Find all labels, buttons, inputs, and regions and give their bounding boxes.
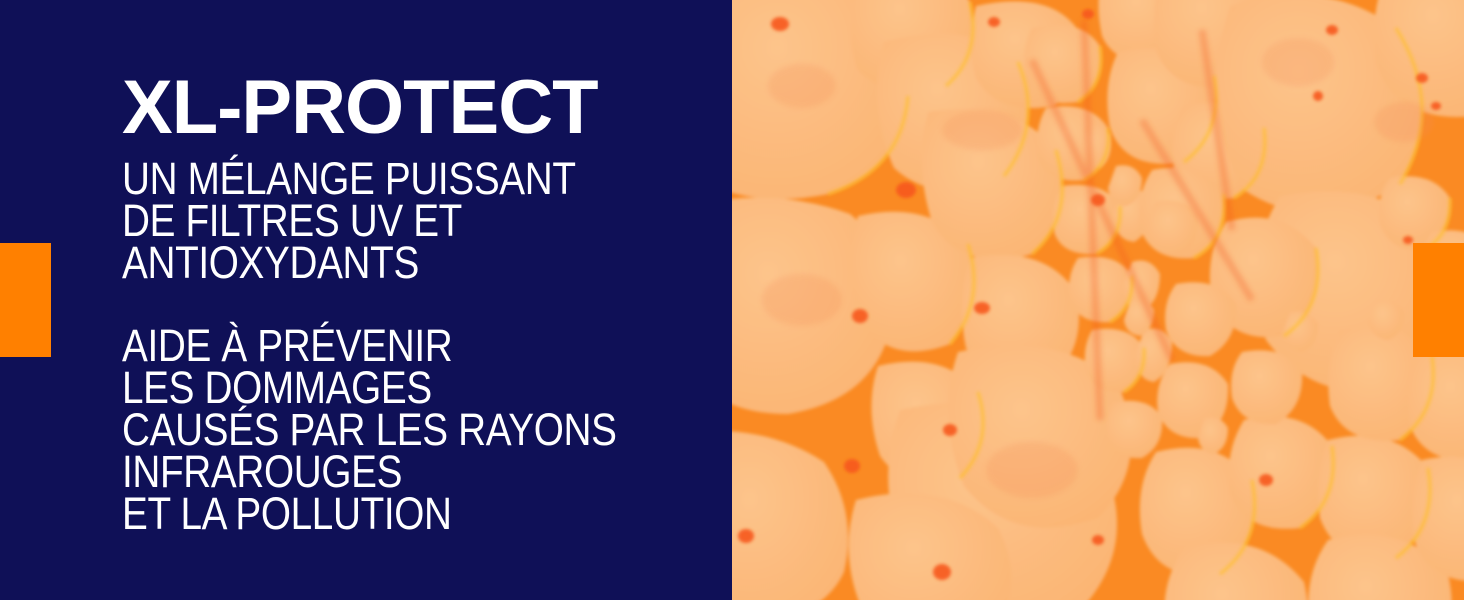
text-content: XL-PROTECT UN MÉLANGE PUISSANT DE FILTRE… (122, 0, 722, 600)
paragraph-2-line-1: AIDE À PRÉVENIR (122, 325, 617, 367)
accent-bar-right (1413, 243, 1464, 357)
microscopy-cells-image (732, 0, 1464, 600)
accent-bar-left (0, 243, 51, 357)
paragraph-2-line-5: ET LA POLLUTION (122, 493, 617, 535)
benefit-paragraph-2: AIDE À PRÉVENIR LES DOMMAGES CAUSÉS PAR … (122, 325, 697, 535)
cell-micrograph-svg (732, 0, 1464, 600)
page-title: XL-PROTECT (122, 70, 598, 146)
paragraph-1-line-2: DE FILTRES UV ET (122, 200, 576, 242)
xl-protect-banner: XL-PROTECT UN MÉLANGE PUISSANT DE FILTRE… (0, 0, 1464, 600)
paragraph-2-line-3: CAUSÉS PAR LES RAYONS (122, 409, 617, 451)
benefit-paragraph-1: UN MÉLANGE PUISSANT DE FILTRES UV ET ANT… (122, 158, 650, 284)
paragraph-1-line-1: UN MÉLANGE PUISSANT (122, 158, 576, 200)
paragraph-2-line-4: INFRAROUGES (122, 451, 617, 493)
paragraph-2-line-2: LES DOMMAGES (122, 367, 617, 409)
paragraph-1-line-3: ANTIOXYDANTS (122, 242, 576, 284)
